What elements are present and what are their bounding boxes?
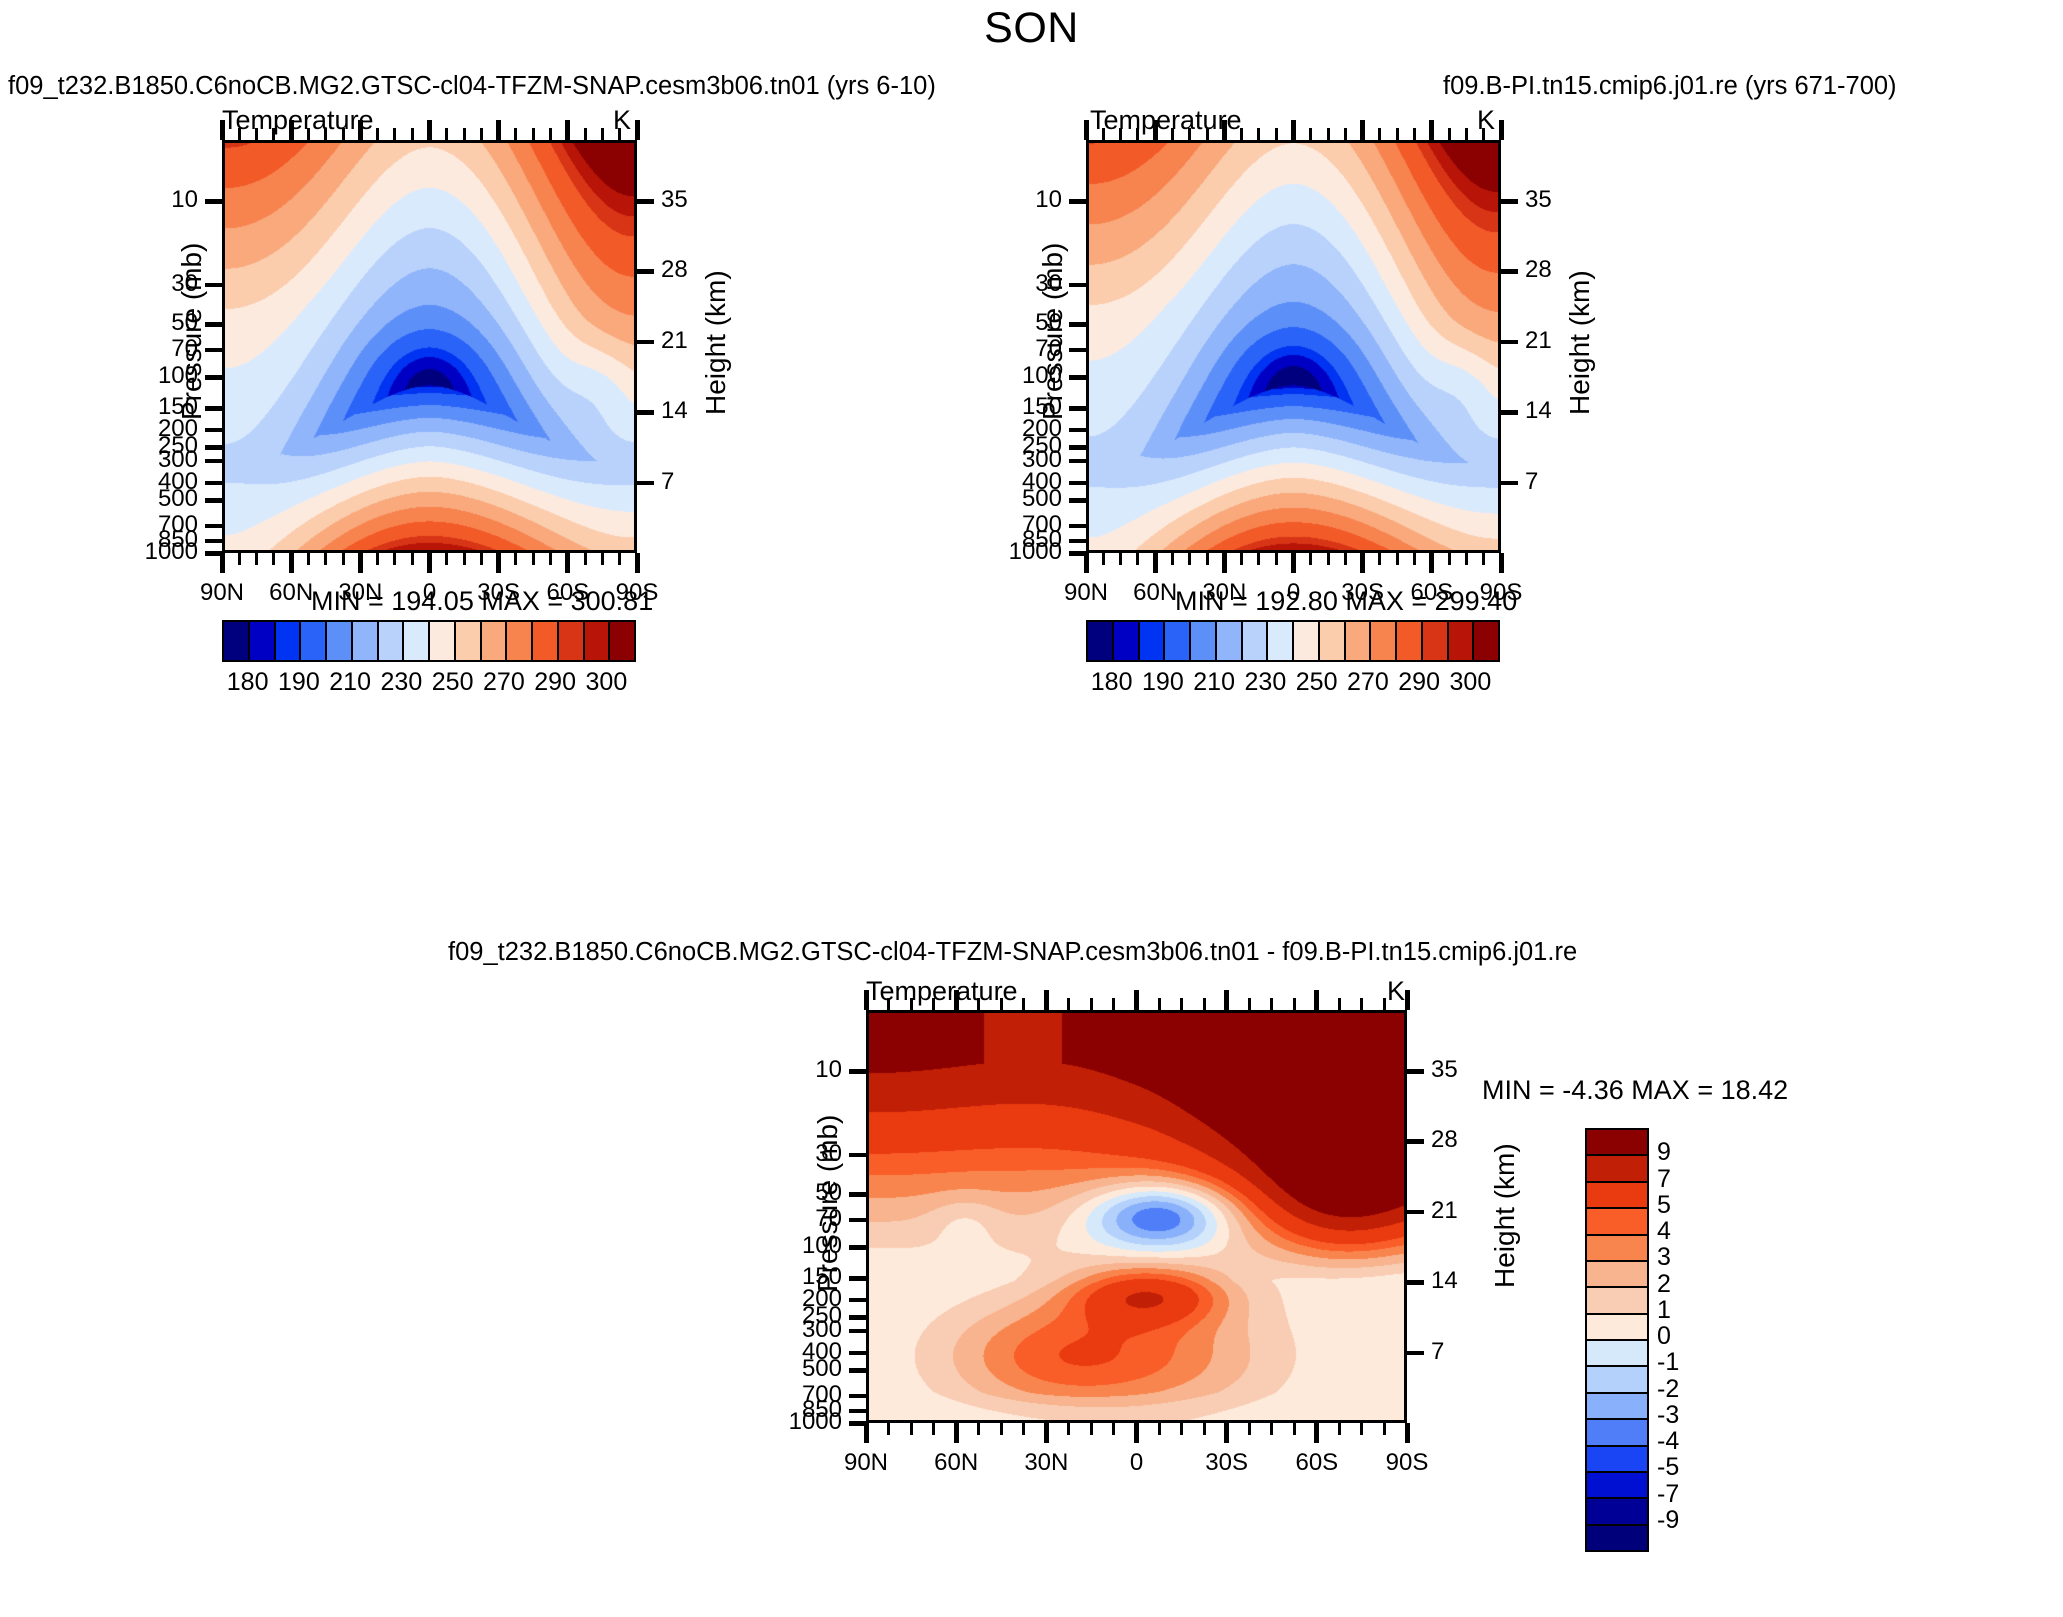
x-top-tick[interactable]: [1482, 128, 1485, 140]
x-bottom-tick[interactable]: [1360, 1423, 1363, 1435]
x-bottom-tick[interactable]: [1291, 553, 1296, 573]
y2-tick[interactable]: [1501, 269, 1518, 274]
colorbar-swatch[interactable]: [1371, 622, 1397, 660]
x-top-tick[interactable]: [1338, 998, 1341, 1010]
y-tick-label[interactable]: 50: [815, 1179, 842, 1207]
y2-tick-label[interactable]: 35: [661, 186, 688, 214]
x-bottom-tick[interactable]: [1338, 1423, 1341, 1435]
y-tick[interactable]: [205, 539, 222, 544]
colorbar-swatch[interactable]: [276, 622, 302, 660]
colorbar-swatch[interactable]: [1397, 622, 1423, 660]
x-bottom-tick[interactable]: [1293, 1423, 1296, 1435]
y-tick-label[interactable]: 1000: [789, 1408, 842, 1436]
x-bottom-tick[interactable]: [1203, 1423, 1206, 1435]
colorbar-swatch[interactable]: [1587, 1209, 1647, 1235]
colorbar-tick-label[interactable]: 0: [1657, 1322, 1671, 1351]
x-bottom-tick[interactable]: [1119, 553, 1122, 565]
x-tick-label[interactable]: 90S: [1386, 1449, 1429, 1477]
x-bottom-tick[interactable]: [1000, 1423, 1003, 1435]
colorbar-tick-label[interactable]: -3: [1657, 1401, 1679, 1430]
x-top-tick[interactable]: [954, 990, 959, 1010]
x-top-tick[interactable]: [1224, 990, 1229, 1010]
y2-tick-label[interactable]: 35: [1431, 1056, 1458, 1084]
x-bottom-tick[interactable]: [1134, 1423, 1139, 1443]
colorbar-swatch[interactable]: [250, 622, 276, 660]
x-top-tick[interactable]: [1102, 128, 1105, 140]
y-tick[interactable]: [1069, 445, 1086, 450]
colorbar-swatch[interactable]: [1587, 1420, 1647, 1446]
y2-tick-label[interactable]: 21: [661, 327, 688, 355]
y-tick[interactable]: [205, 322, 222, 327]
colorbar-tick-label[interactable]: 300: [1450, 668, 1492, 697]
x-bottom-tick[interactable]: [1270, 1423, 1273, 1435]
x-top-tick[interactable]: [1000, 998, 1003, 1010]
y2-tick-label[interactable]: 14: [1525, 397, 1552, 425]
colorbar-swatch[interactable]: [1587, 1236, 1647, 1262]
colorbar-swatch[interactable]: [1114, 622, 1140, 660]
x-top-tick[interactable]: [1257, 128, 1260, 140]
colorbar-swatch[interactable]: [1587, 1262, 1647, 1288]
colorbar-tick-label[interactable]: 300: [586, 668, 628, 697]
x-top-tick[interactable]: [1413, 128, 1416, 140]
y-tick[interactable]: [205, 199, 222, 204]
y-tick[interactable]: [205, 498, 222, 503]
colorbar-tick-label[interactable]: 180: [227, 668, 269, 697]
colorbar-tick-label[interactable]: 210: [1193, 668, 1235, 697]
colorbar-tick-label[interactable]: -5: [1657, 1453, 1679, 1482]
colorbar-tick-label[interactable]: 1: [1657, 1296, 1671, 1325]
y-tick[interactable]: [205, 481, 222, 486]
x-top-tick[interactable]: [1293, 998, 1296, 1010]
colorbar-swatch[interactable]: [1423, 622, 1449, 660]
colorbar-tick-label[interactable]: 230: [1245, 668, 1287, 697]
x-top-tick[interactable]: [1171, 128, 1174, 140]
x-top-tick[interactable]: [618, 128, 621, 140]
y-tick-label[interactable]: 30: [1035, 270, 1062, 298]
colorbar-swatch[interactable]: [1587, 1130, 1647, 1156]
colorbar-swatch[interactable]: [327, 622, 353, 660]
colorbar-swatch[interactable]: [1088, 622, 1114, 660]
x-top-tick[interactable]: [1203, 998, 1206, 1010]
y-tick[interactable]: [1069, 459, 1086, 464]
y-tick[interactable]: [1069, 375, 1086, 380]
x-bottom-tick[interactable]: [549, 553, 552, 565]
y2-tick-label[interactable]: 21: [1525, 327, 1552, 355]
x-top-tick[interactable]: [411, 128, 414, 140]
y-tick[interactable]: [849, 1315, 866, 1320]
x-top-tick[interactable]: [977, 998, 980, 1010]
y-tick-label[interactable]: 500: [158, 485, 198, 513]
x-top-tick[interactable]: [1499, 120, 1504, 140]
colorbar-swatch[interactable]: [430, 622, 456, 660]
x-bottom-tick[interactable]: [1136, 553, 1139, 565]
colorbar-swatch[interactable]: [1587, 1315, 1647, 1341]
colorbar-swatch[interactable]: [1587, 1183, 1647, 1209]
y-tick-label[interactable]: 1000: [1009, 538, 1062, 566]
x-bottom-tick[interactable]: [1309, 553, 1312, 565]
x-bottom-tick[interactable]: [1413, 553, 1416, 565]
x-top-tick[interactable]: [324, 128, 327, 140]
x-top-tick[interactable]: [1291, 120, 1296, 140]
x-bottom-tick[interactable]: [1240, 553, 1243, 565]
colorbar-swatch[interactable]: [456, 622, 482, 660]
y-tick[interactable]: [849, 1276, 866, 1281]
x-top-tick[interactable]: [864, 990, 869, 1010]
x-bottom-tick[interactable]: [1482, 553, 1485, 565]
x-top-tick[interactable]: [1248, 998, 1251, 1010]
x-bottom-tick[interactable]: [954, 1423, 959, 1443]
x-bottom-tick[interactable]: [1022, 1423, 1025, 1435]
x-top-tick[interactable]: [496, 120, 501, 140]
x-bottom-tick[interactable]: [427, 553, 432, 573]
y-tick[interactable]: [1069, 348, 1086, 353]
x-bottom-tick[interactable]: [496, 553, 501, 573]
x-top-tick[interactable]: [1405, 990, 1410, 1010]
y-tick-label[interactable]: 50: [171, 309, 198, 337]
colorbar-tick-label[interactable]: 210: [329, 668, 371, 697]
x-bottom-tick[interactable]: [1188, 553, 1191, 565]
x-bottom-tick[interactable]: [220, 553, 225, 573]
x-top-tick[interactable]: [272, 128, 275, 140]
x-top-tick[interactable]: [445, 128, 448, 140]
x-top-tick[interactable]: [1309, 128, 1312, 140]
x-top-tick[interactable]: [238, 128, 241, 140]
x-top-tick[interactable]: [514, 128, 517, 140]
colorbar-swatch[interactable]: [1217, 622, 1243, 660]
x-bottom-tick[interactable]: [358, 553, 363, 573]
colorbar-swatch[interactable]: [1294, 622, 1320, 660]
x-top-tick[interactable]: [220, 120, 225, 140]
x-top-tick[interactable]: [480, 128, 483, 140]
colorbar-swatch[interactable]: [404, 622, 430, 660]
x-top-tick[interactable]: [910, 998, 913, 1010]
colorbar-swatch[interactable]: [507, 622, 533, 660]
x-bottom-tick[interactable]: [1248, 1423, 1251, 1435]
colorbar-swatch[interactable]: [1140, 622, 1166, 660]
y-tick[interactable]: [205, 406, 222, 411]
x-tick-label[interactable]: 60N: [269, 579, 313, 607]
x-top-tick[interactable]: [549, 128, 552, 140]
colorbar-swatch[interactable]: [1587, 1367, 1647, 1393]
x-bottom-tick[interactable]: [1102, 553, 1105, 565]
y-tick[interactable]: [1069, 481, 1086, 486]
x-top-tick[interactable]: [289, 120, 294, 140]
y-tick-label[interactable]: 70: [1035, 335, 1062, 363]
colorbar-tick-label[interactable]: 270: [1347, 668, 1389, 697]
x-top-tick[interactable]: [1112, 998, 1115, 1010]
x-top-tick[interactable]: [1084, 120, 1089, 140]
x-top-tick[interactable]: [1448, 128, 1451, 140]
x-bottom-tick[interactable]: [532, 553, 535, 565]
y-tick-label[interactable]: 10: [171, 186, 198, 214]
x-top-tick[interactable]: [1206, 128, 1209, 140]
x-top-tick[interactable]: [1383, 998, 1386, 1010]
y2-tick-label[interactable]: 21: [1431, 1197, 1458, 1225]
colorbar-swatch[interactable]: [1587, 1394, 1647, 1420]
y2-tick[interactable]: [637, 481, 654, 486]
x-tick-label[interactable]: 90N: [1064, 579, 1108, 607]
colorbar-tick-label[interactable]: 190: [278, 668, 320, 697]
x-top-tick[interactable]: [307, 128, 310, 140]
y-tick-label[interactable]: 100: [158, 362, 198, 390]
x-tick-label[interactable]: 90N: [844, 1449, 888, 1477]
y-tick[interactable]: [849, 1409, 866, 1414]
x-bottom-tick[interactable]: [584, 553, 587, 565]
x-bottom-tick[interactable]: [1448, 553, 1451, 565]
y2-tick[interactable]: [1501, 410, 1518, 415]
x-bottom-tick[interactable]: [514, 553, 517, 565]
y-tick[interactable]: [1069, 322, 1086, 327]
x-bottom-tick[interactable]: [393, 553, 396, 565]
colorbar-tick-label[interactable]: 4: [1657, 1217, 1671, 1246]
x-bottom-tick[interactable]: [1396, 553, 1399, 565]
x-top-tick[interactable]: [1327, 128, 1330, 140]
x-bottom-tick[interactable]: [255, 553, 258, 565]
y-tick[interactable]: [205, 375, 222, 380]
y-tick[interactable]: [849, 1329, 866, 1334]
colorbar-swatch[interactable]: [1587, 1288, 1647, 1314]
y2-tick-label[interactable]: 14: [661, 397, 688, 425]
x-top-tick[interactable]: [1090, 998, 1093, 1010]
colorbar-tick-label[interactable]: 180: [1091, 668, 1133, 697]
y-tick[interactable]: [849, 1153, 866, 1158]
x-top-tick[interactable]: [635, 120, 640, 140]
colorbar-tick-label[interactable]: -9: [1657, 1506, 1679, 1535]
y-tick[interactable]: [205, 524, 222, 529]
colorbar-swatch[interactable]: [1587, 1447, 1647, 1473]
colorbar-swatch[interactable]: [301, 622, 327, 660]
y2-tick[interactable]: [637, 410, 654, 415]
x-top-tick[interactable]: [1396, 128, 1399, 140]
x-top-tick[interactable]: [601, 128, 604, 140]
colorbar-swatch[interactable]: [1474, 622, 1498, 660]
y2-tick[interactable]: [1407, 1210, 1424, 1215]
x-bottom-tick[interactable]: [1206, 553, 1209, 565]
x-bottom-tick[interactable]: [601, 553, 604, 565]
x-bottom-tick[interactable]: [1224, 1423, 1229, 1443]
x-top-tick[interactable]: [1344, 128, 1347, 140]
x-top-tick[interactable]: [584, 128, 587, 140]
y-tick[interactable]: [205, 348, 222, 353]
colorbar-tick-label[interactable]: 230: [381, 668, 423, 697]
y-tick-label[interactable]: 100: [1022, 362, 1062, 390]
colorbar-swatch[interactable]: [1587, 1526, 1647, 1550]
x-bottom-tick[interactable]: [1158, 1423, 1161, 1435]
x-bottom-tick[interactable]: [977, 1423, 980, 1435]
y-tick[interactable]: [849, 1192, 866, 1197]
y-tick[interactable]: [205, 459, 222, 464]
colorbar-tick-label[interactable]: 270: [483, 668, 525, 697]
x-bottom-tick[interactable]: [1499, 553, 1504, 573]
x-bottom-tick[interactable]: [1327, 553, 1330, 565]
x-tick-label[interactable]: 30S: [1205, 1449, 1248, 1477]
x-top-tick[interactable]: [887, 998, 890, 1010]
x-top-tick[interactable]: [1153, 120, 1158, 140]
y-tick[interactable]: [1069, 283, 1086, 288]
x-top-tick[interactable]: [1429, 120, 1434, 140]
x-bottom-tick[interactable]: [272, 553, 275, 565]
colorbar-tick-label[interactable]: -4: [1657, 1427, 1679, 1456]
x-bottom-tick[interactable]: [1090, 1423, 1093, 1435]
x-tick-label[interactable]: 90N: [200, 579, 244, 607]
colorbar-swatch[interactable]: [610, 622, 634, 660]
x-top-tick[interactable]: [1067, 998, 1070, 1010]
colorbar-swatch[interactable]: [1165, 622, 1191, 660]
y-tick[interactable]: [205, 283, 222, 288]
y2-tick-label[interactable]: 28: [1525, 256, 1552, 284]
y2-tick[interactable]: [1501, 340, 1518, 345]
y-tick-label[interactable]: 1000: [145, 538, 198, 566]
x-bottom-tick[interactable]: [1378, 553, 1381, 565]
y-tick[interactable]: [849, 1298, 866, 1303]
colorbar-tick-label[interactable]: 5: [1657, 1191, 1671, 1220]
colorbar-tick-label[interactable]: 250: [432, 668, 474, 697]
y-tick[interactable]: [1069, 524, 1086, 529]
colorbar-swatch[interactable]: [353, 622, 379, 660]
colorbar-swatch[interactable]: [379, 622, 405, 660]
x-top-tick[interactable]: [1022, 998, 1025, 1010]
y-tick[interactable]: [849, 1394, 866, 1399]
x-bottom-tick[interactable]: [887, 1423, 890, 1435]
y2-tick-label[interactable]: 14: [1431, 1267, 1458, 1295]
colorbar-swatch[interactable]: [1587, 1473, 1647, 1499]
y-tick-label[interactable]: 50: [1035, 309, 1062, 337]
x-top-tick[interactable]: [342, 128, 345, 140]
y2-tick-label[interactable]: 7: [1525, 468, 1538, 496]
colorbar-swatch[interactable]: [1320, 622, 1346, 660]
x-top-tick[interactable]: [1119, 128, 1122, 140]
x-top-tick[interactable]: [427, 120, 432, 140]
x-bottom-tick[interactable]: [445, 553, 448, 565]
x-top-tick[interactable]: [358, 120, 363, 140]
x-bottom-tick[interactable]: [480, 553, 483, 565]
colorbar-swatch[interactable]: [1587, 1499, 1647, 1525]
x-top-tick[interactable]: [1136, 128, 1139, 140]
y-tick[interactable]: [849, 1069, 866, 1074]
colorbar-swatch[interactable]: [559, 622, 585, 660]
x-top-tick[interactable]: [932, 998, 935, 1010]
y2-tick-label[interactable]: 28: [1431, 1126, 1458, 1154]
x-bottom-tick[interactable]: [1153, 553, 1158, 573]
x-top-tick[interactable]: [1314, 990, 1319, 1010]
x-top-tick[interactable]: [1360, 120, 1365, 140]
x-top-tick[interactable]: [1158, 998, 1161, 1010]
y2-tick[interactable]: [1501, 481, 1518, 486]
y2-tick-label[interactable]: 28: [661, 256, 688, 284]
x-bottom-tick[interactable]: [342, 553, 345, 565]
x-bottom-tick[interactable]: [1429, 553, 1434, 573]
x-tick-label[interactable]: 60N: [1133, 579, 1177, 607]
colorbar-tick-label[interactable]: -2: [1657, 1375, 1679, 1404]
y2-tick[interactable]: [637, 199, 654, 204]
y2-tick[interactable]: [1407, 1139, 1424, 1144]
y2-tick-label[interactable]: 35: [1525, 186, 1552, 214]
y-tick[interactable]: [849, 1368, 866, 1373]
x-bottom-tick[interactable]: [1067, 1423, 1070, 1435]
y2-tick[interactable]: [1407, 1280, 1424, 1285]
x-bottom-tick[interactable]: [618, 553, 621, 565]
colorbar-swatch[interactable]: [1191, 622, 1217, 660]
x-top-tick[interactable]: [1044, 990, 1049, 1010]
x-bottom-tick[interactable]: [1275, 553, 1278, 565]
y2-tick[interactable]: [1407, 1351, 1424, 1356]
x-top-tick[interactable]: [532, 128, 535, 140]
y-tick[interactable]: [1069, 498, 1086, 503]
colorbar-tick-label[interactable]: -1: [1657, 1348, 1679, 1377]
colorbar-swatch[interactable]: [1243, 622, 1269, 660]
x-top-tick[interactable]: [463, 128, 466, 140]
colorbar-tick-label[interactable]: 290: [1398, 668, 1440, 697]
x-bottom-tick[interactable]: [1405, 1423, 1410, 1443]
x-tick-label[interactable]: 60S: [1295, 1449, 1338, 1477]
colorbar-swatch[interactable]: [1587, 1341, 1647, 1367]
colorbar-swatch[interactable]: [585, 622, 611, 660]
y-tick-label[interactable]: 100: [802, 1232, 842, 1260]
x-top-tick[interactable]: [1360, 998, 1363, 1010]
colorbar-tick-label[interactable]: 9: [1657, 1138, 1671, 1167]
colorbar-tick-label[interactable]: 250: [1296, 668, 1338, 697]
x-bottom-tick[interactable]: [565, 553, 570, 573]
x-bottom-tick[interactable]: [289, 553, 294, 573]
colorbar-swatch[interactable]: [1268, 622, 1294, 660]
x-bottom-tick[interactable]: [463, 553, 466, 565]
x-top-tick[interactable]: [1188, 128, 1191, 140]
y2-tick-label[interactable]: 7: [661, 468, 674, 496]
y-tick[interactable]: [205, 445, 222, 450]
x-top-tick[interactable]: [1275, 128, 1278, 140]
y-tick-label[interactable]: 70: [815, 1205, 842, 1233]
y-tick-label[interactable]: 30: [815, 1140, 842, 1168]
x-bottom-tick[interactable]: [1044, 1423, 1049, 1443]
y-tick[interactable]: [1069, 199, 1086, 204]
x-bottom-tick[interactable]: [1257, 553, 1260, 565]
y-tick-label[interactable]: 30: [171, 270, 198, 298]
x-bottom-tick[interactable]: [376, 553, 379, 565]
x-bottom-tick[interactable]: [324, 553, 327, 565]
colorbar-tick-label[interactable]: 190: [1142, 668, 1184, 697]
x-bottom-tick[interactable]: [1222, 553, 1227, 573]
y2-tick[interactable]: [1501, 199, 1518, 204]
x-top-tick[interactable]: [1180, 998, 1183, 1010]
y-tick-label[interactable]: 10: [1035, 186, 1062, 214]
y-tick[interactable]: [849, 1351, 866, 1356]
y-tick[interactable]: [1069, 539, 1086, 544]
x-bottom-tick[interactable]: [238, 553, 241, 565]
x-bottom-tick[interactable]: [1112, 1423, 1115, 1435]
y-tick-label[interactable]: 500: [802, 1355, 842, 1383]
x-top-tick[interactable]: [1270, 998, 1273, 1010]
x-bottom-tick[interactable]: [1084, 553, 1089, 573]
y-tick-label[interactable]: 500: [1022, 485, 1062, 513]
colorbar-swatch[interactable]: [1449, 622, 1475, 660]
x-top-tick[interactable]: [1378, 128, 1381, 140]
y2-tick[interactable]: [1407, 1069, 1424, 1074]
y-tick[interactable]: [1069, 406, 1086, 411]
x-top-tick[interactable]: [376, 128, 379, 140]
x-bottom-tick[interactable]: [910, 1423, 913, 1435]
colorbar-tick-label[interactable]: 290: [534, 668, 576, 697]
x-bottom-tick[interactable]: [1360, 553, 1365, 573]
x-tick-label[interactable]: 0: [1130, 1449, 1143, 1477]
colorbar-tick-label[interactable]: 7: [1657, 1165, 1671, 1194]
x-bottom-tick[interactable]: [1171, 553, 1174, 565]
y2-tick[interactable]: [637, 340, 654, 345]
colorbar-swatch[interactable]: [1346, 622, 1372, 660]
y2-tick-label[interactable]: 7: [1431, 1338, 1444, 1366]
x-bottom-tick[interactable]: [1465, 553, 1468, 565]
x-bottom-tick[interactable]: [1180, 1423, 1183, 1435]
x-top-tick[interactable]: [393, 128, 396, 140]
